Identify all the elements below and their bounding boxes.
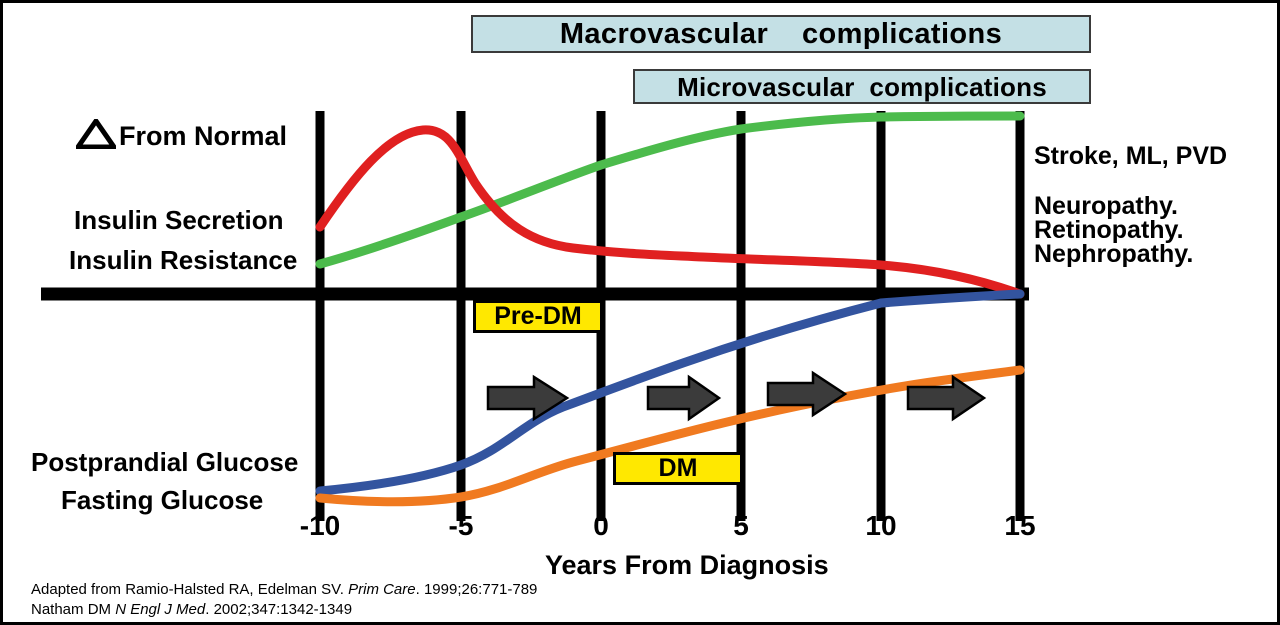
citation-1-journal: Prim Care (348, 581, 416, 598)
x-tick-label-5: 15 (1004, 512, 1035, 540)
delta-triangle-icon (76, 119, 116, 149)
stage-box-dm: DM (613, 452, 743, 485)
x-tick-label-1: -5 (449, 512, 474, 540)
citation-2-journal: N Engl J Med (115, 601, 205, 618)
legend-postprandial-glucose: Postprandial Glucose (31, 448, 298, 476)
banner-microvascular-complications: Microvascular complications (633, 69, 1091, 104)
diabetes-natural-history-figure: Macrovascular complications Microvascula… (0, 0, 1280, 625)
series-insulin-resistance (320, 116, 1020, 264)
x-tick-label-2: 0 (593, 512, 609, 540)
x-tick-label-0: -10 (300, 512, 340, 540)
x-tick-label-4: 10 (865, 512, 896, 540)
x-tick-label-3: 5 (733, 512, 749, 540)
legend-fasting-glucose: Fasting Glucose (61, 486, 263, 514)
banner-macrovascular-complications: Macrovascular complications (471, 15, 1091, 53)
x-axis-title: Years From Diagnosis (545, 550, 829, 581)
citation-2-text: Natham DM (31, 601, 115, 618)
citation-line-2: Natham DM N Engl J Med. 2002;347:1342-13… (31, 602, 352, 619)
legend-insulin-resistance: Insulin Resistance (69, 246, 297, 274)
outcome-nephropathy: Nephropathy. (1034, 240, 1193, 269)
stage-box-pre-dm: Pre-DM (473, 300, 603, 333)
series-insulin-secretion (320, 130, 1020, 294)
citation-1-text: Adapted from Ramio-Halsted RA, Edelman S… (31, 581, 348, 598)
legend-insulin-secretion: Insulin Secretion (74, 206, 284, 234)
citation-1-detail: . 1999;26:771-789 (416, 581, 538, 598)
citation-2-detail: . 2002;347:1342-1349 (205, 601, 352, 618)
legend-from-normal: From Normal (119, 122, 287, 151)
outcome-macrovascular: Stroke, ML, PVD (1034, 143, 1227, 170)
citation-line-1: Adapted from Ramio-Halsted RA, Edelman S… (31, 582, 537, 599)
progression-arrow-2 (648, 377, 719, 419)
x-axis-ticks (320, 503, 1020, 521)
